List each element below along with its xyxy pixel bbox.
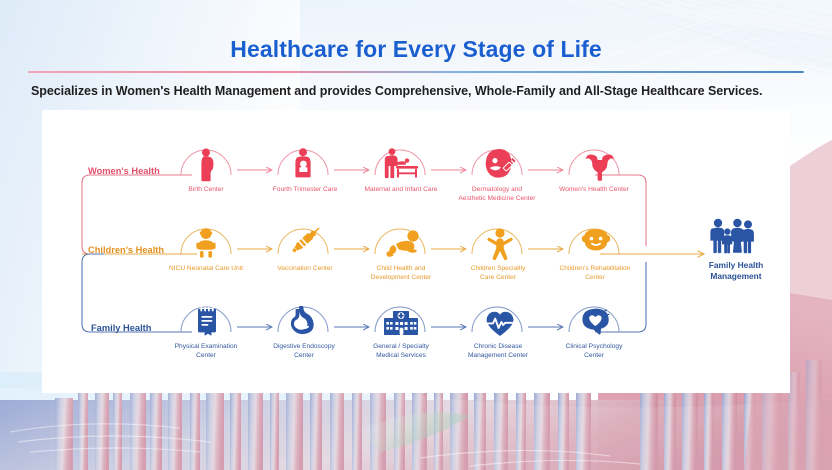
node-label-chronic-disease-management-center[interactable]: Chronic Disease Management Center [450, 343, 546, 360]
stomach-icon [291, 306, 314, 334]
node-label-fourth-trimester-care[interactable]: Fourth Trimester Care [258, 186, 352, 195]
node-label-womens-health-center[interactable]: Women's Health Center [547, 186, 641, 195]
node-label-children-specialtly-care-center[interactable]: Children Specialtly Care Center [451, 265, 545, 282]
outcome-label-family-health-management[interactable]: Family Health Management [694, 260, 778, 282]
row-label-family-health: Family Health [91, 323, 151, 333]
syringe-vaccine-icon [289, 223, 323, 256]
node-label-child-health-and-development-center[interactable]: Child Health and Development Center [354, 265, 448, 282]
node-label-birth-center[interactable]: Birth Center [166, 186, 246, 195]
page-title: Healthcare for Every Stage of Life [0, 0, 832, 63]
pregnant-woman-icon [201, 149, 213, 182]
maternal-infant-care-icon [385, 148, 418, 178]
page-subtitle: Specializes in Women's Health Management… [31, 84, 762, 98]
newborn-baby-icon [196, 228, 215, 257]
medical-report-icon [198, 307, 216, 336]
hospital-building-icon [384, 311, 418, 335]
uterus-icon [586, 154, 614, 180]
node-arcs-row-2 [181, 229, 619, 254]
dermatology-syringe-face-icon [486, 149, 515, 178]
node-label-childrens-rehabilitation-center[interactable]: Children's Rehabilitation Center [547, 265, 643, 282]
node-label-digestive-endoscopy-center[interactable]: Digestive Endoscopy Center [256, 343, 352, 360]
family-group-icon [710, 219, 754, 254]
node-label-physical-examination-center[interactable]: Physical Examination Center [160, 343, 252, 360]
node-label-general-specialty-medical-services[interactable]: General / Specialty Medical Services [354, 343, 448, 360]
child-arms-up-icon [487, 228, 512, 260]
node-label-dermatology-aesthetic-medicine-center[interactable]: Dermatology and Aesthetic Medicine Cente… [449, 186, 545, 203]
header-divider [28, 71, 804, 73]
node-label-maternal-and-infant-care[interactable]: Maternal and Infant Care [354, 186, 448, 195]
row-label-childrens-health: Children's Health [88, 245, 164, 255]
slide-header: Healthcare for Every Stage of Life Speci… [0, 0, 832, 63]
crawling-baby-icon [386, 230, 418, 256]
mother-holding-baby-icon [295, 148, 310, 177]
row-label-womens-health: Women's Health [88, 166, 160, 176]
healthcare-flow-diagram: Women's Health Birth Center Fourth Trime… [42, 110, 790, 393]
node-label-nicu-neonatal-care-unit[interactable]: NICU Neonatal Care Unit [160, 265, 252, 274]
heart-pulse-icon [487, 312, 514, 336]
psychology-speech-heart-icon [582, 309, 608, 335]
node-label-vaccination-center[interactable]: Vaccination Center [258, 265, 352, 274]
node-label-clinical-psychology-center[interactable]: Clinical Psychology Center [547, 343, 641, 360]
